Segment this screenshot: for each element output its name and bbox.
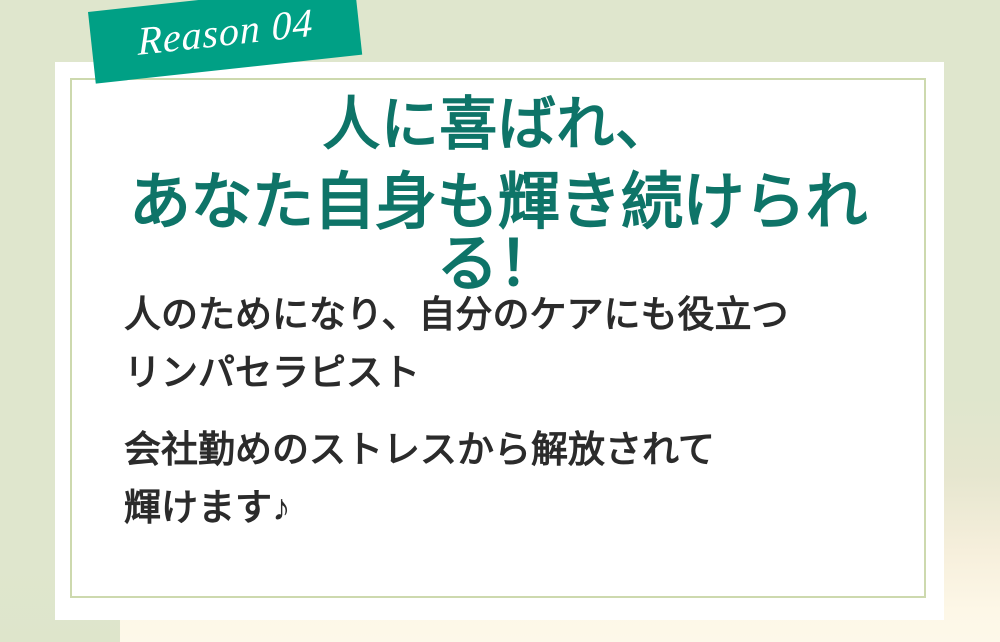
body-paragraph: 人のためになり、自分のケアにも役立つ リンパセラピスト [124,296,914,391]
reason-ribbon-label: Reason 04 [137,2,314,64]
headline-line-2: あなた自身も輝き続けられる！ [70,172,926,296]
body-copy: 人のためになり、自分のケアにも役立つ リンパセラピスト 会社勤めのストレスから解… [124,296,914,526]
page-title: 人に喜ばれ、 あなた自身も輝き続けられる！ [70,96,926,296]
body-line: リンパセラピスト [124,354,914,391]
body-line: 輝けます♪ [124,489,914,526]
headline-line-1: 人に喜ばれ、 [70,96,926,172]
body-line: 人のためになり、自分のケアにも役立つ [124,296,914,333]
promo-banner: Reason 04 人に喜ばれ、 あなた自身も輝き続けられる！ 人のためになり、… [0,0,1000,642]
body-paragraph: 会社勤めのストレスから解放されて 輝けます♪ [124,431,914,526]
body-line: 会社勤めのストレスから解放されて [124,431,914,468]
